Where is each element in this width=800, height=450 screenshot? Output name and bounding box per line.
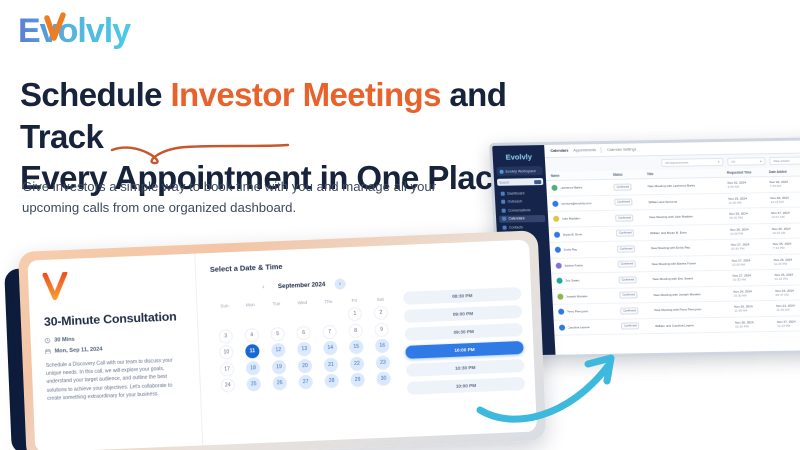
calendar-day[interactable]: 27	[292, 374, 319, 392]
cell-status: Confirmed	[621, 322, 653, 330]
avatar	[551, 185, 557, 191]
cell-title: New Meeting with Barbra Foster	[652, 260, 730, 265]
cell-date-added: Nov 27, 202411:33 PM	[777, 319, 800, 328]
calendar-day[interactable]: 6	[290, 324, 317, 342]
calendar-day-empty	[264, 309, 291, 327]
status-badge: Confirmed	[613, 183, 632, 190]
cell-requested-time: Nov 28, 202411:00 PM	[730, 227, 770, 236]
cell-date-added: Nov 27, 202412:07 AM	[771, 211, 800, 220]
cell-title: William and Sereena	[648, 199, 726, 204]
cell-status: Confirmed	[615, 214, 647, 222]
avatar	[552, 201, 558, 207]
cell-title: William and Bryan B. Ervin	[650, 230, 728, 235]
calendar-day[interactable]: 2	[368, 304, 395, 322]
calendar-day[interactable]: 3	[212, 327, 239, 345]
calendar-day[interactable]: 9	[368, 321, 395, 339]
next-month-button[interactable]: ›	[334, 278, 345, 289]
filter-calendar-value: All Appointments	[665, 161, 688, 165]
calendar-day[interactable]: 22	[344, 355, 371, 373]
avatar	[557, 293, 563, 299]
cell-status: Confirmed	[613, 183, 645, 191]
contact-name: Carolina Lepere	[567, 325, 589, 329]
cell-date-added: Nov 28, 202412:21 AM	[770, 195, 800, 204]
underline-squiggle-icon	[108, 136, 298, 170]
search-shortcut-badge	[534, 180, 541, 184]
calendar-day-empty	[290, 308, 317, 326]
calendar-day[interactable]: 17	[214, 360, 241, 378]
calendar-day[interactable]: 5	[264, 325, 291, 343]
column-header-name: Name	[551, 173, 611, 178]
calendar-icon	[502, 217, 506, 221]
cell-name: Joseph Morales	[557, 292, 617, 299]
cell-status: Confirmed	[620, 307, 652, 315]
cell-name: Perry Piercyson	[558, 308, 618, 315]
sidebar-item-calendars[interactable]: Calendars	[499, 215, 545, 223]
current-month-label: September 2024	[278, 281, 326, 290]
sidebar-item-label: Conversations	[508, 208, 531, 212]
search-placeholder: Search	[499, 180, 509, 184]
cell-date-added: Nov 25, 202411:22 PM	[774, 272, 800, 281]
booking-details-panel: 30-Minute Consultation 30 Mins Mon, Sep …	[27, 254, 203, 450]
sidebar-item-label: Contacts	[509, 225, 523, 229]
calendar-day[interactable]: 14	[317, 339, 344, 357]
pointer-arrow-icon	[468, 352, 643, 450]
cell-date-added: Nov 24, 202406:47 AM	[775, 288, 800, 297]
avatar	[559, 324, 565, 330]
avatar	[555, 247, 561, 253]
status-badge: Confirmed	[620, 307, 639, 314]
cell-date-added: Nov 25, 20247:13 PM	[773, 241, 800, 250]
workspace-avatar	[499, 169, 503, 173]
event-duration: 30 Mins	[45, 332, 184, 344]
cell-name: Eric Sward	[556, 277, 616, 284]
workspace-switcher[interactable]: Evolvly Workspace	[496, 166, 543, 176]
calendar-day[interactable]: 8	[342, 322, 369, 340]
column-header-date-added: Date Added	[769, 169, 800, 174]
prev-month-button[interactable]: ‹	[258, 282, 269, 293]
cell-name: Emily Ray	[555, 246, 615, 253]
contact-name: Barbra Foster	[564, 263, 583, 267]
calendar-day[interactable]: 21	[318, 356, 345, 374]
contact-name: Julie Madden	[562, 217, 581, 221]
cell-name: Lawrence Batey	[551, 184, 611, 191]
time-slot-button[interactable]: 09:00 PM	[404, 305, 522, 322]
contact-name: Eric Sward	[565, 279, 580, 283]
cell-requested-time: Dec 02, 20246:00 AM	[727, 180, 767, 189]
tab-calendars[interactable]: Calendars	[550, 149, 568, 153]
calendar-day[interactable]: 16	[369, 337, 396, 355]
calendar-day[interactable]: 30	[370, 370, 397, 388]
sidebar-item-label: Dashboard	[507, 191, 524, 195]
tab-appointments[interactable]: Appointments	[573, 148, 596, 152]
cell-status: Confirmed	[614, 198, 646, 206]
outreach-icon	[501, 200, 505, 204]
sidebar-item-label: Outreach	[508, 200, 523, 204]
cell-name: services@evolvly.com	[552, 200, 612, 207]
dashboard-main: Calendars Appointments Calendar Settings…	[544, 140, 800, 354]
sidebar-item-label: Calendars	[509, 217, 525, 221]
calendar-day[interactable]: 7	[316, 323, 343, 341]
cell-title: New Meeting with Emily Ray	[651, 245, 729, 250]
status-badge: Confirmed	[614, 199, 633, 206]
cell-name: Julie Madden	[553, 215, 613, 222]
cell-status: Confirmed	[616, 229, 648, 237]
filter-date-select[interactable]: Date Added ▾	[769, 157, 800, 165]
calendar-day[interactable]: 28	[318, 372, 345, 390]
sidebar-item-dashboard[interactable]: Dashboard	[498, 189, 544, 197]
workspace-label: Evolvly Workspace	[505, 169, 536, 174]
cell-requested-time: Nov 27, 202410:30 AM	[732, 258, 772, 267]
cell-title: New Meeting with Lawrence Batey	[647, 183, 725, 188]
filter-date-value: Date Added	[773, 159, 789, 163]
cell-name: Barbra Foster	[556, 261, 616, 268]
cell-title: New Meeting with Joseph Morales	[653, 291, 731, 296]
sidebar-search-input[interactable]: Search	[497, 178, 543, 186]
chevron-down-icon: ▾	[760, 159, 762, 163]
event-title: 30-Minute Consultation	[44, 309, 183, 329]
cell-requested-time: Nov 29, 202411:00 AM	[728, 196, 768, 205]
calendar-day[interactable]: 10	[213, 344, 240, 362]
cell-title: New Meeting with Julie Madden	[649, 214, 727, 219]
contacts-icon	[502, 225, 506, 229]
avatar	[558, 309, 564, 315]
cell-title: New Meeting with Perry Piercyson	[654, 307, 732, 312]
column-header-title: Title	[647, 171, 725, 176]
calendar-grid-wrapper: ‹ September 2024 › SunMonTueWedThuFriSat…	[211, 276, 398, 402]
calendar-day[interactable]: 18	[240, 359, 267, 377]
calendar-day[interactable]: 4	[238, 326, 265, 344]
status-badge: Confirmed	[615, 214, 634, 221]
avatar	[554, 231, 560, 237]
sidebar-item-outreach[interactable]: Outreach	[498, 198, 544, 206]
cell-status: Confirmed	[619, 291, 651, 299]
date-label: Mon, Sep 11, 2024	[55, 346, 103, 354]
contact-name: Lawrence Batey	[560, 186, 582, 190]
contact-name: Emily Ray	[563, 248, 577, 252]
status-badge: Confirmed	[617, 245, 636, 252]
booking-window: 30-Minute Consultation 30 Mins Mon, Sep …	[27, 240, 537, 450]
status-badge: Confirmed	[616, 230, 635, 237]
calendar-day[interactable]: 15	[343, 338, 370, 356]
calendar-day[interactable]: 23	[370, 354, 397, 372]
calendar-day[interactable]: 11	[239, 343, 266, 361]
calendar-day-empty	[238, 310, 265, 328]
avatar	[553, 216, 559, 222]
evolvly-logo-icon: Evolvly	[18, 8, 178, 54]
cell-date-added: Nov 26, 202410:10 AM	[772, 226, 800, 235]
time-slot-button[interactable]: 08:30 PM	[403, 287, 521, 304]
check-mark-icon	[42, 272, 69, 301]
calendar-day[interactable]: 13	[291, 341, 318, 359]
column-header-requested-time: Requested Time	[727, 170, 767, 175]
table-body: Lawrence BateyConfirmedNew Meeting with …	[546, 176, 800, 336]
dashboard-logo: Evolvly	[496, 152, 543, 162]
chevron-down-icon: ▾	[718, 160, 720, 164]
calendar-day[interactable]: 19	[266, 358, 293, 376]
month-navigation: ‹ September 2024 ›	[211, 276, 393, 295]
status-badge: Confirmed	[619, 292, 638, 299]
calendar-day[interactable]: 24	[214, 377, 241, 395]
avatar	[556, 278, 562, 284]
column-header-status: Status	[613, 172, 645, 177]
cell-date-added: Dec 02, 20247:44 AM	[769, 180, 800, 189]
cell-name: Bryan B. Ervin	[554, 231, 614, 238]
calendar-day[interactable]: 1	[342, 305, 369, 323]
cell-date-added: Nov 23, 202411:35 AM	[776, 303, 800, 312]
cell-status: Confirmed	[618, 260, 650, 268]
topbar-divider	[601, 147, 602, 153]
calendar-day[interactable]: 26	[266, 375, 293, 393]
calendar-day[interactable]: 29	[344, 371, 371, 389]
filter-status-value: All	[731, 160, 735, 164]
cell-requested-time: Nov 27, 202402:30 PM	[731, 242, 771, 251]
calendar-day-empty	[212, 311, 239, 329]
status-badge: Confirmed	[618, 276, 637, 283]
contact-name: services@evolvly.com	[561, 201, 592, 206]
filter-status-select[interactable]: All ▾	[727, 157, 765, 165]
svg-text:Evolvly: Evolvly	[18, 12, 131, 50]
cell-requested-time: Nov 26, 202411:00 AM	[734, 304, 774, 313]
cell-requested-time: Nov 27, 202410:30 AM	[732, 273, 772, 282]
calendar-days-grid: 1234567891011121314151617181920212223242…	[212, 304, 397, 394]
cell-title: William and Carolina Lepere	[655, 322, 733, 327]
headline-highlight: Investor Meetings	[170, 76, 440, 113]
event-date: Mon, Sep 11, 2024	[45, 343, 184, 355]
chat-icon	[502, 208, 506, 212]
calendar-day[interactable]: 25	[240, 376, 267, 394]
cell-requested-time: Nov 28, 202402:30 PM	[735, 320, 775, 329]
contact-name: Bryan B. Ervin	[562, 232, 582, 236]
cell-status: Confirmed	[617, 245, 649, 253]
time-slot-button[interactable]: 09:30 PM	[405, 323, 523, 340]
contact-name: Perry Piercyson	[567, 309, 589, 313]
duration-label: 30 Mins	[54, 337, 75, 344]
page-subtitle: Give investors a simple way to book time…	[22, 176, 472, 219]
headline-part1: Schedule	[20, 76, 170, 113]
calendar-day-empty	[316, 306, 343, 324]
cell-requested-time: Nov 26, 202410:30 AM	[733, 289, 773, 298]
brand-logo: Evolvly	[18, 8, 178, 54]
calendar-heading: Select a Date & Time	[210, 252, 520, 274]
dashboard-icon	[501, 192, 505, 196]
cell-date-added: Nov 25, 202411:33 PM	[774, 257, 800, 266]
calendar-settings-link[interactable]: Calendar Settings	[607, 147, 637, 152]
cell-title: New Meeting with Eric Sward	[653, 276, 731, 281]
filter-calendar-select[interactable]: All Appointments ▾	[661, 158, 723, 167]
status-badge: Confirmed	[618, 261, 637, 268]
calendar-day[interactable]: 12	[265, 342, 292, 360]
event-description: Schedule a Discovery Call with our team …	[46, 356, 187, 404]
contact-name: Joseph Morales	[566, 294, 588, 298]
appointments-table: Name Status Title Requested Time Date Ad…	[546, 167, 800, 354]
cell-status: Confirmed	[618, 276, 650, 284]
calendar-icon	[45, 348, 51, 354]
status-badge: Confirmed	[621, 323, 640, 330]
sidebar-item-conversations[interactable]: Conversations	[498, 206, 544, 214]
calendar-day[interactable]: 20	[292, 357, 319, 375]
cell-name: Carolina Lepere	[559, 323, 619, 330]
avatar	[556, 262, 562, 268]
clock-icon	[45, 338, 51, 344]
cell-requested-time: Nov 29, 202404:20 PM	[729, 211, 769, 220]
